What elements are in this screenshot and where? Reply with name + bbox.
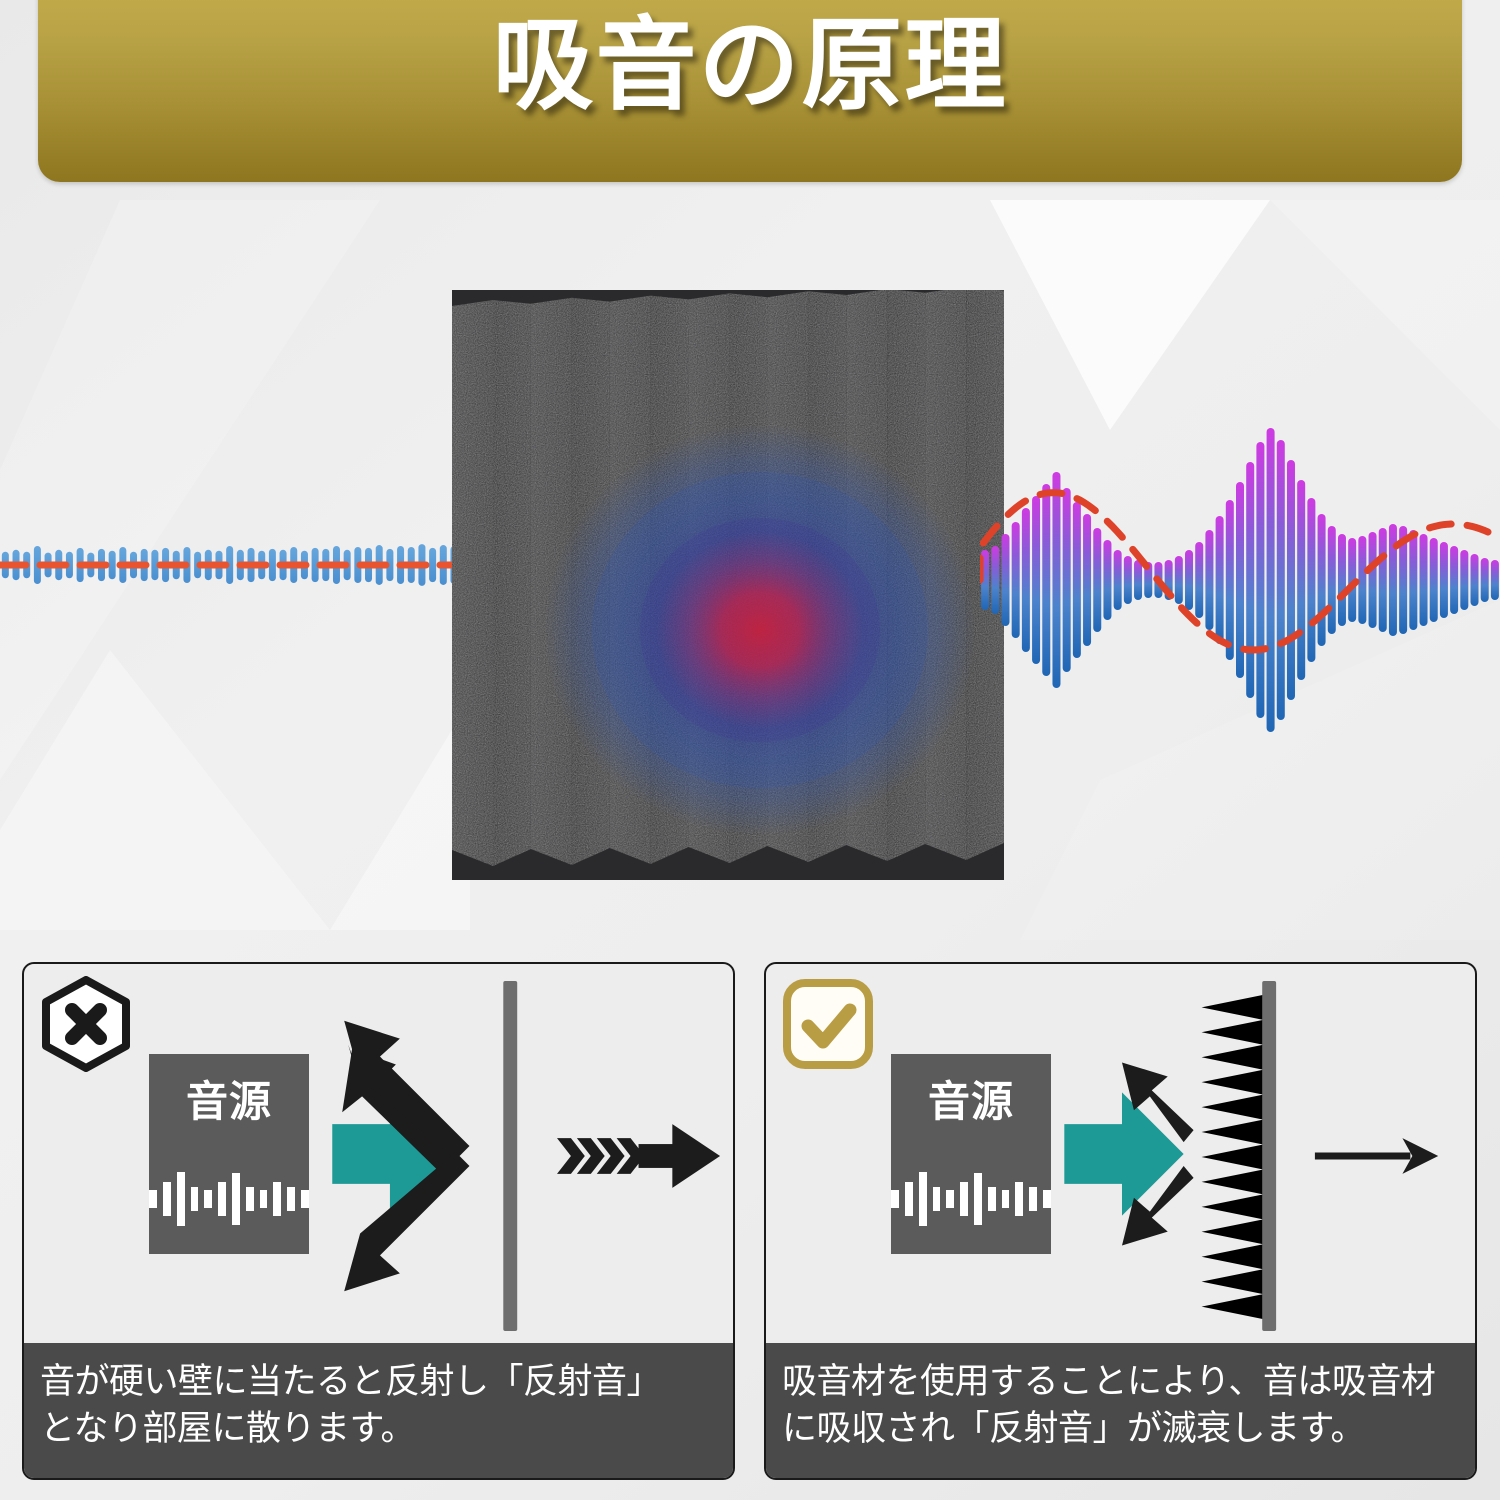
transmitted-sound-arrow-good <box>1315 1138 1438 1174</box>
waveform-bar <box>1032 496 1040 664</box>
waveform-bar <box>1440 542 1448 618</box>
waveform-bar <box>1358 536 1366 624</box>
waveform-bar <box>1287 460 1295 700</box>
waveform-bar <box>1379 528 1387 632</box>
waveform-bar <box>1216 516 1224 644</box>
waveform-bar <box>1389 524 1397 636</box>
panel-caption-good: 吸音材を使用することにより、音は吸音材 に吸収され「反射音」が滅衰します。 <box>766 1343 1475 1478</box>
incident-waveform-left <box>0 510 470 620</box>
waveform-bar <box>1318 514 1326 646</box>
waveform-bar <box>1297 480 1305 680</box>
waveform-bar <box>1246 462 1254 698</box>
waveform-bar <box>1124 556 1132 604</box>
foam-wedge-groove <box>493 300 531 866</box>
waveform-bar <box>1256 442 1264 718</box>
waveform-bar <box>1022 508 1030 652</box>
waveform-bar <box>1430 538 1438 622</box>
waveform-bar <box>1001 534 1009 626</box>
waveform-bar <box>1205 530 1213 630</box>
reflected-waveform-right <box>980 380 1500 780</box>
hero-illustration <box>0 190 1500 950</box>
waveform-bar <box>1134 560 1142 600</box>
page-title: 吸音の原理 <box>38 6 1462 127</box>
waveform-bar <box>1450 546 1458 614</box>
waveform-bar <box>1369 532 1377 628</box>
panel-reflection-bad: 音源 <box>22 962 735 1480</box>
waveform-bar <box>269 549 276 581</box>
transmitted-sound-arrow-bad <box>557 1124 720 1188</box>
waveform-bar <box>1420 534 1428 626</box>
waveform-bar <box>429 548 436 582</box>
waveform-bar <box>1460 550 1468 610</box>
waveform-bar <box>1012 522 1020 638</box>
header-banner: 吸音の原理 <box>38 0 1462 182</box>
waveform-bar <box>1226 500 1234 660</box>
waveform-bar <box>991 546 999 614</box>
page-root: 吸音の原理 <box>0 0 1500 1500</box>
absorber-tooth-profile <box>1202 995 1264 1319</box>
absorption-arrows-good <box>766 964 1475 1347</box>
waveform-bar <box>1491 560 1499 600</box>
waveform-bar <box>1267 428 1275 732</box>
waveform-bar <box>1103 540 1111 620</box>
waveform-bar <box>1114 550 1122 610</box>
sound-energy-halo <box>540 410 980 850</box>
waveform-bar <box>1063 488 1071 672</box>
reflection-arrows-bad <box>24 964 733 1347</box>
waveform-bar <box>1328 526 1336 634</box>
waveform-bar <box>1277 440 1285 720</box>
waveform-bar <box>109 551 116 580</box>
waveform-bar <box>1195 542 1203 618</box>
waveform-bar <box>1481 558 1489 602</box>
foam-wedge-facet <box>452 300 493 866</box>
waveform-bar <box>1471 554 1479 606</box>
waveform-bar <box>1093 528 1101 632</box>
sound-absorber-sawtooth <box>1202 995 1264 1319</box>
diagram-absorber-wall: 音源 <box>766 964 1475 1347</box>
diagram-hard-wall: 音源 <box>24 964 733 1347</box>
panel-absorption-good: 音源 <box>764 962 1477 1480</box>
waveform-bar <box>1409 530 1417 630</box>
hard-wall-good <box>1262 981 1276 1331</box>
hard-wall-bad <box>503 981 517 1331</box>
waveform-bar <box>1073 502 1081 658</box>
waveform-bar <box>1175 556 1183 604</box>
waveform-bar <box>1052 472 1060 688</box>
panel-caption-bad: 音が硬い壁に当たると反射し「反射音」 となり部屋に散ります。 <box>24 1343 733 1478</box>
waveform-bar <box>1338 534 1346 626</box>
waveform-bar <box>1083 514 1091 646</box>
waveform-bar <box>1042 484 1050 676</box>
waveform-bar <box>1307 498 1315 662</box>
waveform-bar <box>1185 550 1193 610</box>
